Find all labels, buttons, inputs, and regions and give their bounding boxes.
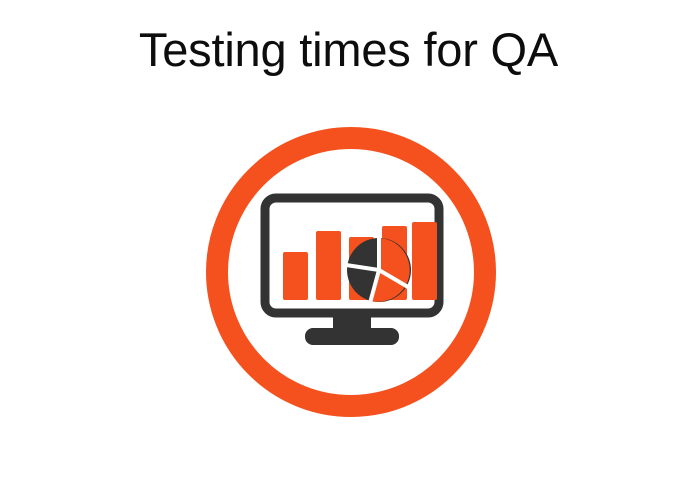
slide-canvas: Testing times for QA	[0, 0, 697, 499]
analytics-monitor-badge-icon	[205, 125, 497, 420]
monitor-base	[305, 328, 399, 345]
bar-1	[283, 252, 308, 300]
bar-5	[412, 222, 437, 300]
bar-2	[316, 231, 341, 300]
page-title: Testing times for QA	[0, 22, 697, 78]
